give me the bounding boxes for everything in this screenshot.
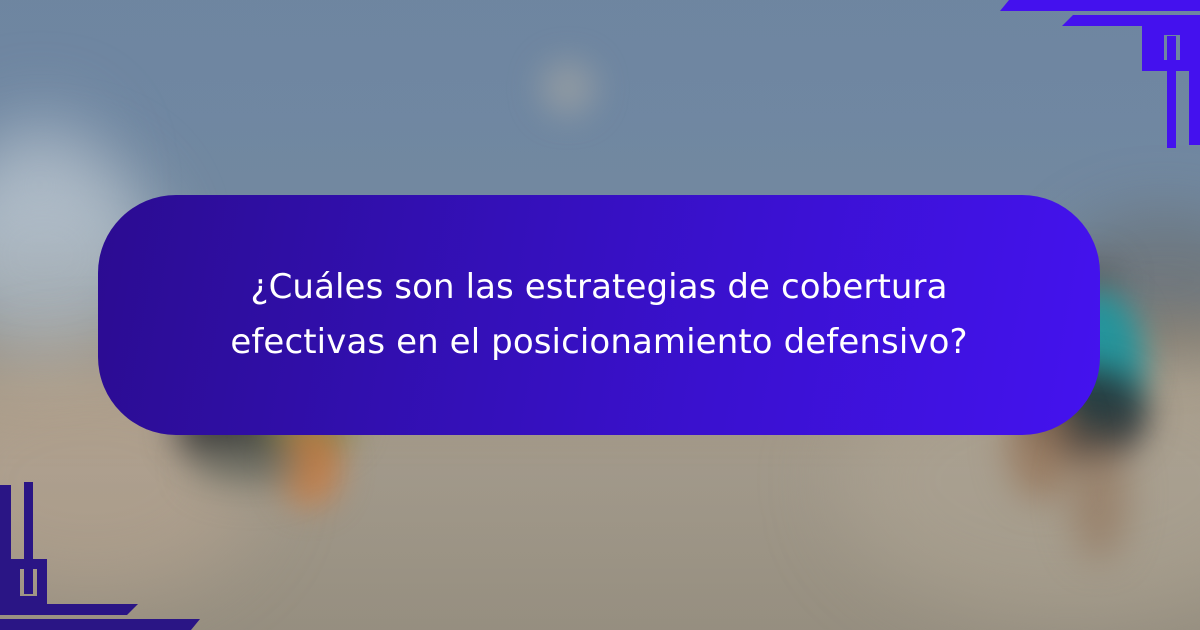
question-text: ¿Cuáles son las estrategias de cobertura… [229,260,969,370]
question-card: ¿Cuáles son las estrategias de cobertura… [98,195,1100,435]
poster-canvas: ¿Cuáles son las estrategias de cobertura… [0,0,1200,630]
